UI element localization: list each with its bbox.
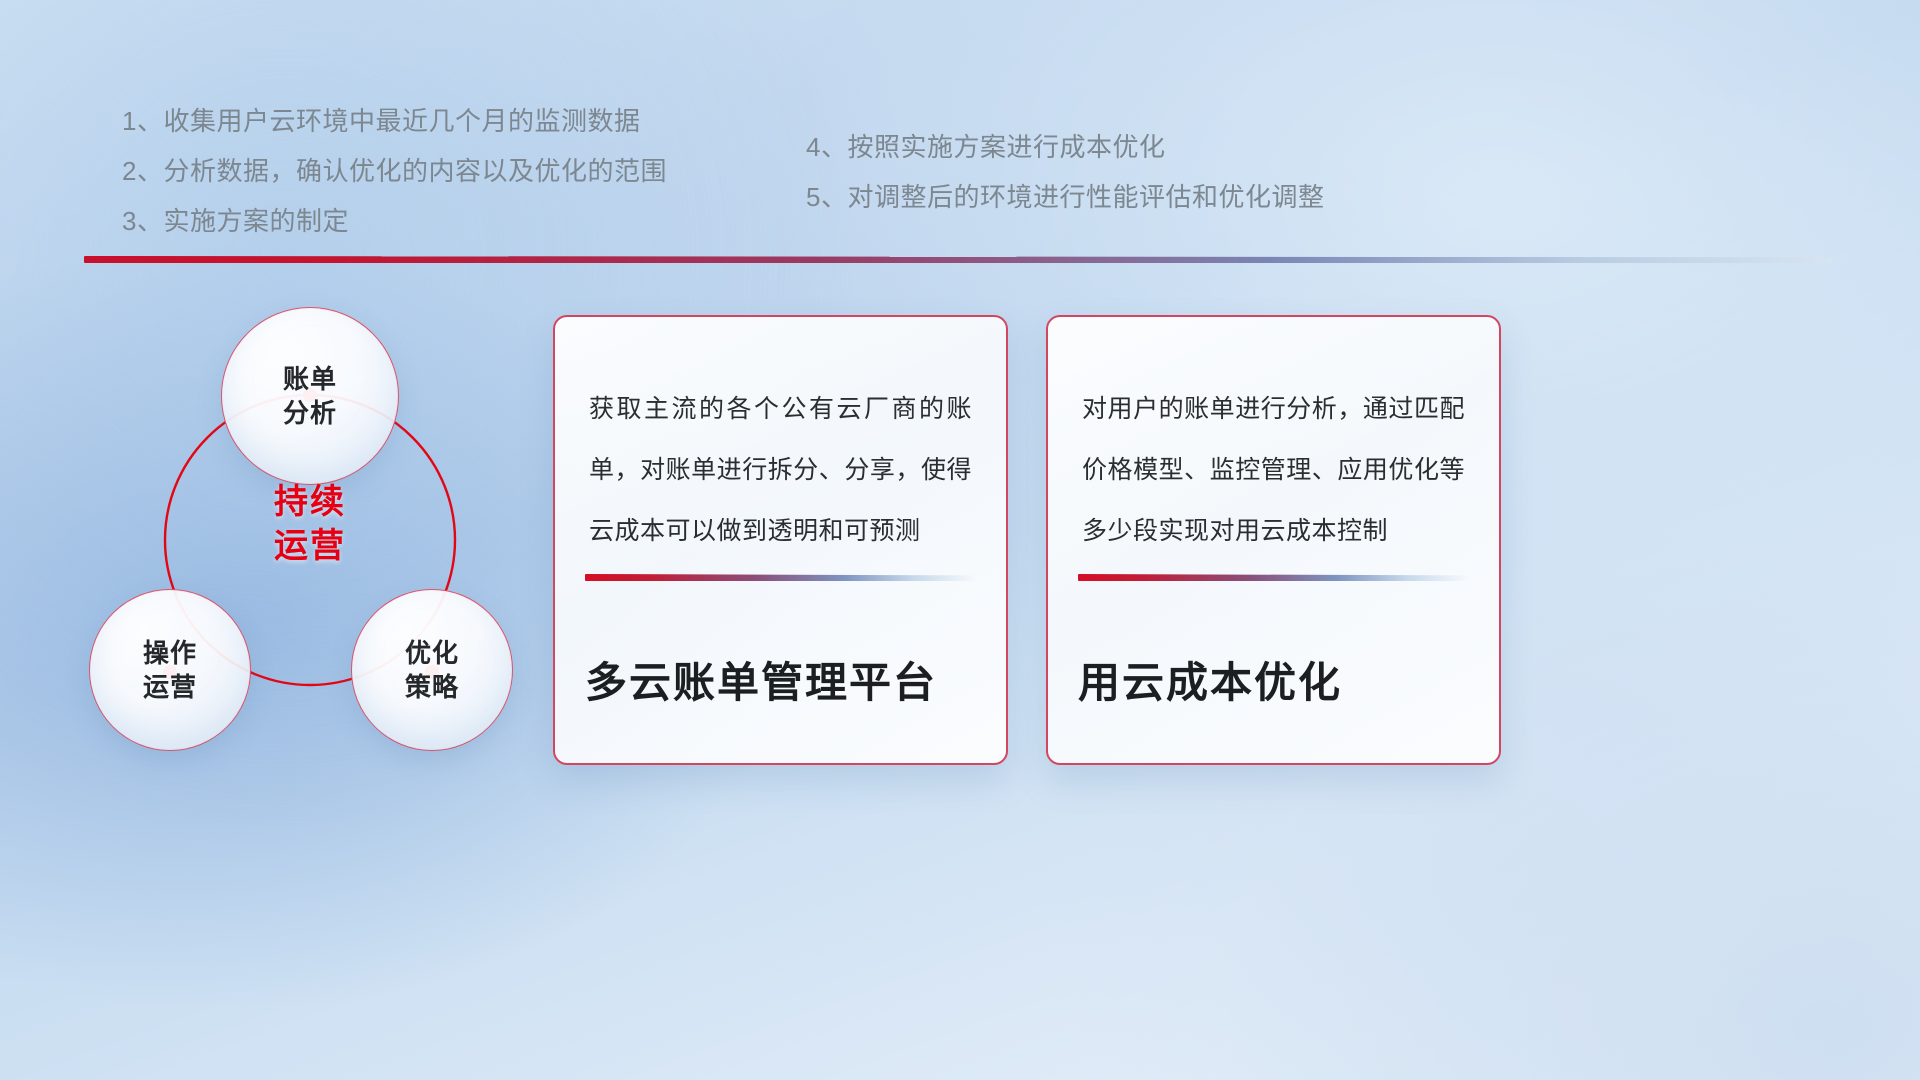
bubble-optimization-strategy-line2: 策略	[405, 672, 459, 702]
card-cloud-cost-optimization[interactable]: 对用户的账单进行分析，通过匹配价格模型、监控管理、应用优化等多少段实现对用云成本…	[1046, 315, 1501, 765]
bubble-operation-line1: 操作	[143, 638, 197, 668]
bubble-optimization-strategy[interactable]: 优化 策略	[352, 590, 512, 750]
step-item-2: 2、分析数据，确认优化的内容以及优化的范围	[122, 146, 667, 196]
bubble-bill-analysis-label: 账单 分析	[283, 362, 337, 430]
bubble-optimization-strategy-label: 优化 策略	[405, 636, 459, 704]
steps-list-right: 4、按照实施方案进行成本优化 5、对调整后的环境进行性能评估和优化调整	[806, 122, 1324, 222]
card-1-rule	[585, 574, 976, 581]
diagram-center-label-line2: 运营	[274, 527, 346, 565]
bubble-operation[interactable]: 操作 运营	[90, 590, 250, 750]
diagram-center-label-line1: 持续	[274, 483, 346, 521]
card-2-title: 用云成本优化	[1048, 657, 1499, 763]
card-1-title: 多云账单管理平台	[555, 657, 1006, 763]
step-item-1: 1、收集用户云环境中最近几个月的监测数据	[122, 96, 667, 146]
continuous-operation-diagram: 账单 分析 操作 运营 优化 策略 持续 运营	[70, 290, 550, 770]
bubble-bill-analysis[interactable]: 账单 分析	[222, 308, 398, 484]
diagram-center-label: 持续 运营	[70, 480, 550, 568]
step-item-3: 3、实施方案的制定	[122, 196, 667, 246]
divider-bar	[84, 256, 1832, 263]
bubble-bill-analysis-line2: 分析	[283, 398, 337, 428]
section-divider	[84, 256, 1832, 263]
bubble-bill-analysis-line1: 账单	[283, 364, 337, 394]
slide-canvas: 1、收集用户云环境中最近几个月的监测数据 2、分析数据，确认优化的内容以及优化的…	[0, 0, 1920, 1080]
step-item-5: 5、对调整后的环境进行性能评估和优化调整	[806, 172, 1324, 222]
card-1-body: 获取主流的各个公有云厂商的账单，对账单进行拆分、分享，使得云成本可以做到透明和可…	[555, 317, 1006, 562]
card-2-body: 对用户的账单进行分析，通过匹配价格模型、监控管理、应用优化等多少段实现对用云成本…	[1048, 317, 1499, 562]
card-2-rule	[1078, 574, 1469, 581]
bubble-operation-line2: 运营	[143, 672, 197, 702]
step-item-4: 4、按照实施方案进行成本优化	[806, 122, 1324, 172]
bubble-operation-label: 操作 运营	[143, 636, 197, 704]
steps-list-left: 1、收集用户云环境中最近几个月的监测数据 2、分析数据，确认优化的内容以及优化的…	[122, 96, 667, 246]
card-multi-cloud-bill-platform[interactable]: 获取主流的各个公有云厂商的账单，对账单进行拆分、分享，使得云成本可以做到透明和可…	[553, 315, 1008, 765]
bubble-optimization-strategy-line1: 优化	[405, 638, 459, 668]
